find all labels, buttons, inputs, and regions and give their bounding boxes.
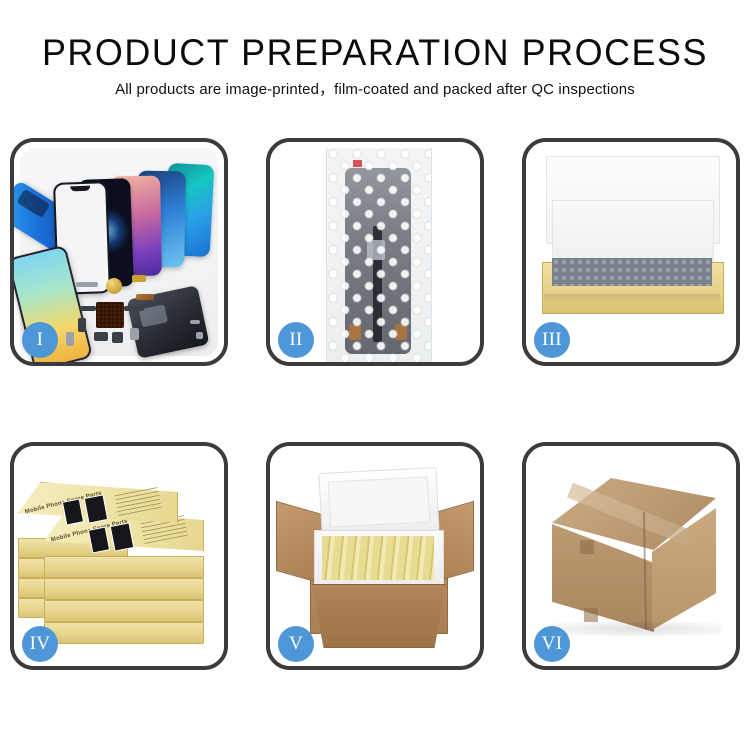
step-badge-2: II [278,322,314,358]
part-icon-b [132,275,146,282]
step-panel-4[interactable]: Mobile Phone Spare Parts Mobile Phone Sp… [10,442,228,670]
part-icon-a [76,282,98,287]
carton-front-wall-icon [306,584,452,648]
part-icon-j [124,306,144,311]
header: PRODUCT PREPARATION PROCESS All products… [0,0,750,99]
part-icon-l [196,332,203,339]
screw-grid-icon [96,302,124,328]
part-icon-f [94,332,108,341]
part-icon-i [66,332,74,346]
carton-tab-lower-icon [584,608,598,622]
step-panel-2[interactable]: II [266,138,484,366]
carton-tab-upper-icon [580,540,594,554]
step-panel-5[interactable]: V [266,442,484,670]
step-grid: I II [10,138,740,670]
step-badge-6: VI [534,626,570,662]
page-title: PRODUCT PREPARATION PROCESS [11,0,739,73]
stacked-box-r2 [44,578,204,600]
page-subtitle: All products are image-printed，film-coat… [6,73,745,99]
bubble-texture [327,148,431,362]
carton-drop-shadow [550,622,722,636]
part-icon-g [112,332,123,343]
part-icon-k [190,320,200,324]
stacked-box-r4 [44,622,204,644]
part-icon-c [136,294,154,300]
bubble-wrap-bag [326,148,432,362]
product-preparation-infographic: PRODUCT PREPARATION PROCESS All products… [0,0,750,750]
yellow-boxes-row-icon [322,536,434,580]
step-panel-1[interactable]: I [10,138,228,366]
stacked-box-r3 [44,600,204,622]
step-badge-4: IV [22,626,58,662]
step-panel-6[interactable]: VI [522,442,740,670]
step-badge-5: V [278,626,314,662]
speaker-module-icon [106,278,122,294]
part-icon-e [78,318,86,332]
part-icon-h [130,328,139,340]
step-badge-1: I [22,322,58,358]
part-icon-d [80,306,96,311]
step-panel-3[interactable]: III [522,138,740,366]
stacked-box-r1 [44,556,204,578]
box-shadow [544,294,720,304]
foam-lid-icon [318,467,439,537]
step-badge-3: III [534,322,570,358]
bubble-wrapped-contents-icon [552,258,712,286]
